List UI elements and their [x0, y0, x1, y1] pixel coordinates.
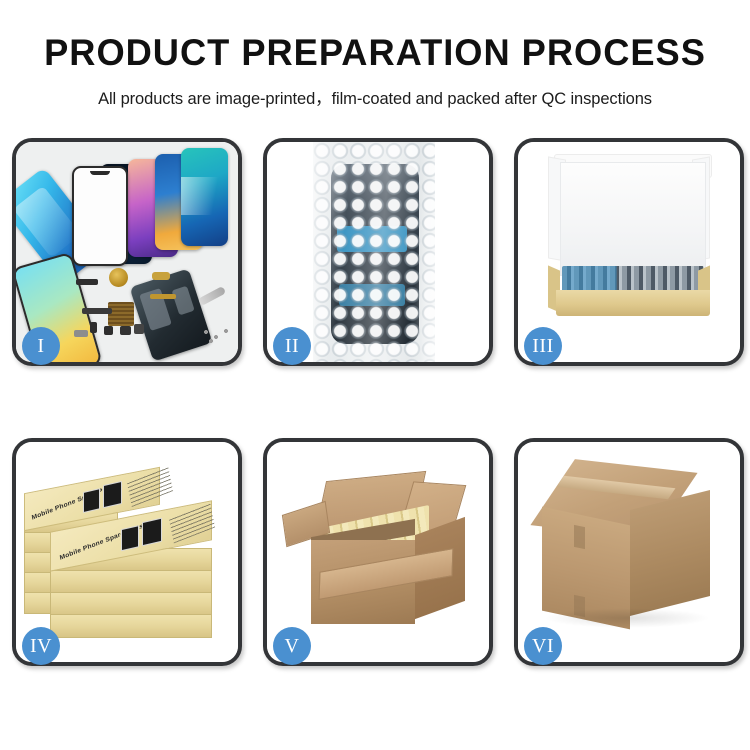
- process-step-grid: I II III: [0, 138, 750, 666]
- carton-shadow: [544, 608, 710, 628]
- retail-box-icon: [50, 570, 212, 594]
- earpiece-speaker-icon: [76, 279, 98, 285]
- process-step-panel-5[interactable]: V: [263, 438, 493, 666]
- phone-teal-display-icon: [181, 148, 228, 246]
- connector-chip-icon: [108, 302, 134, 326]
- box-screen-image: [121, 525, 139, 551]
- flex-cable-icon: [82, 308, 112, 314]
- mailer-base-front-icon: [556, 290, 710, 316]
- mailer-interior-icon: [560, 162, 706, 276]
- screws-icon: [202, 328, 232, 344]
- power-button-flex-icon: [152, 272, 170, 280]
- retail-box-icon: [50, 592, 212, 616]
- phone-notch-icon: [90, 171, 110, 175]
- screen-protector-icon: [72, 166, 128, 266]
- carton-seam-icon: [574, 525, 585, 549]
- rear-camera-icon: [134, 324, 144, 334]
- sealed-carton-side-icon: [630, 490, 710, 616]
- flex-cable-gold-icon: [150, 294, 176, 299]
- process-step-panel-2[interactable]: II: [263, 138, 493, 366]
- retail-box-icon: [50, 614, 212, 638]
- page-header: PRODUCT PREPARATION PROCESS All products…: [0, 0, 750, 109]
- step-badge-6: VI: [524, 627, 562, 665]
- plastic-gloss-overlay: [313, 142, 435, 362]
- step-badge-2: II: [273, 327, 311, 365]
- step-badge-3: III: [524, 327, 562, 365]
- step-badge-4: IV: [22, 627, 60, 665]
- sim-tray-icon: [74, 330, 88, 337]
- process-step-panel-3[interactable]: III: [514, 138, 744, 366]
- mailer-contents-icon: [562, 266, 704, 292]
- volume-button-icon: [90, 322, 97, 333]
- box-screen-image: [142, 518, 162, 547]
- box-screen-image: [83, 488, 100, 513]
- small-part-icon: [104, 326, 113, 335]
- step-badge-5: V: [273, 627, 311, 665]
- box-spec-lines: [127, 466, 173, 507]
- retail-box-stack-icon: Mobile Phone Spare Parts Mobile Phone Sp…: [22, 456, 238, 654]
- process-step-panel-6[interactable]: VI: [514, 438, 744, 666]
- vibration-motor-icon: [109, 268, 128, 287]
- process-step-panel-4[interactable]: Mobile Phone Spare Parts Mobile Phone Sp…: [12, 438, 242, 666]
- step-badge-1: I: [22, 327, 60, 365]
- page-subtitle: All products are image-printed，film-coat…: [0, 85, 750, 109]
- process-step-panel-1[interactable]: I: [12, 138, 242, 366]
- box-screen-image: [103, 481, 122, 508]
- page-title: PRODUCT PREPARATION PROCESS: [8, 34, 743, 73]
- camera-module-icon: [120, 326, 131, 335]
- box-spec-lines: [169, 503, 215, 544]
